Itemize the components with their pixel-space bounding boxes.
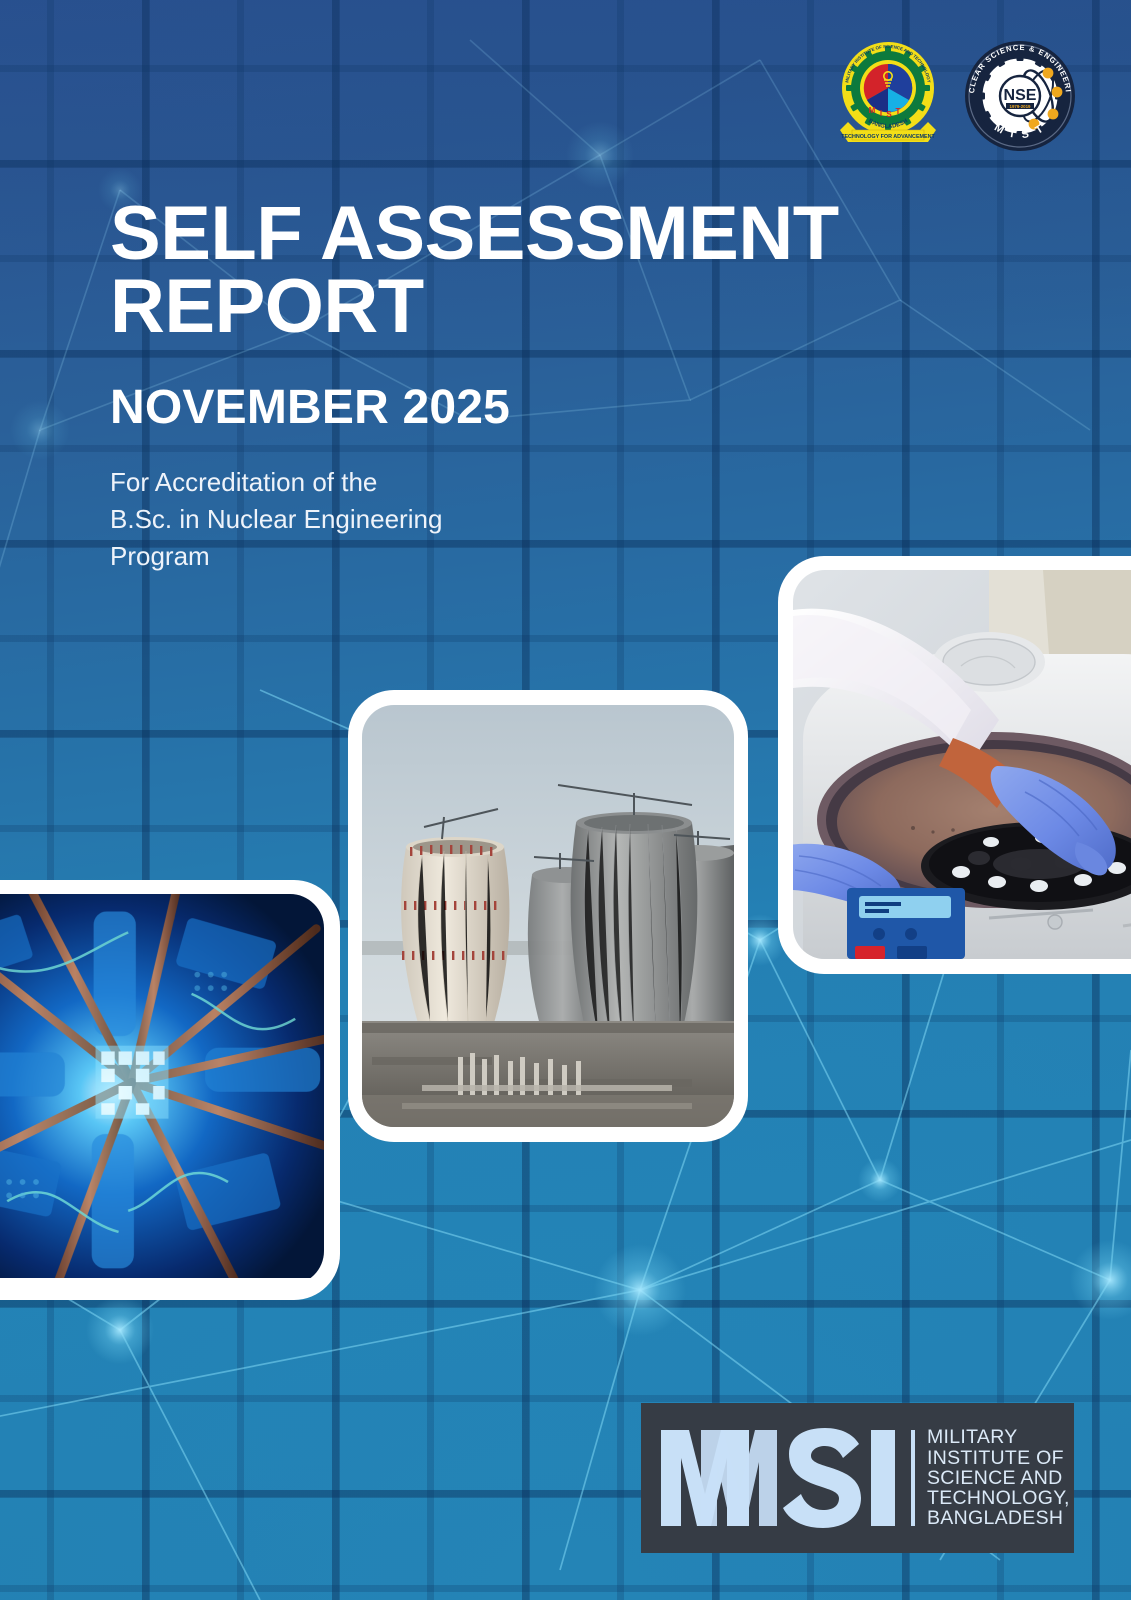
wordmark-organization-name: MILITARY INSTITUTE OF SCIENCE AND TECHNO… <box>927 1427 1070 1528</box>
laboratory-centrifuge-photo <box>793 570 1131 959</box>
title-line-2: REPORT <box>110 271 950 344</box>
org-line-4: TECHNOLOGY, <box>927 1488 1070 1508</box>
org-line-1: MILITARY <box>927 1427 1070 1447</box>
org-line-5: BANGLADESH <box>927 1508 1070 1528</box>
laboratory-centrifuge-photo-frame <box>793 570 1131 959</box>
header-logos: MI ST MILITARY INSTITUTE OF SCIENCE AND … <box>834 38 1076 154</box>
laboratory-centrifuge-photo-card <box>778 556 1131 974</box>
svg-text:S: S <box>886 110 892 119</box>
svg-text:TECHNOLOGY FOR ADVANCEMENT: TECHNOLOGY FOR ADVANCEMENT <box>841 134 935 140</box>
subtitle-line-1: For Accreditation of the <box>110 464 950 501</box>
wordmark-divider <box>911 1430 915 1526</box>
reactor-core-photo-frame <box>0 894 324 1285</box>
svg-text:NSE: NSE <box>1004 87 1037 104</box>
org-line-3: SCIENCE AND <box>927 1468 1070 1488</box>
subtitle-line-2: B.Sc. in Nuclear Engineering <box>110 501 950 538</box>
page-title: SELF ASSESSMENT REPORT <box>110 198 950 344</box>
nse-department-logo: NSE 1979-2019 NUCLEAR SCIENCE & ENGINEER… <box>964 40 1076 152</box>
reactor-core-photo-card <box>0 880 340 1300</box>
mist-wordmark-letters <box>659 1428 909 1528</box>
svg-text:M: M <box>869 106 876 115</box>
cooling-towers-photo-card <box>348 690 748 1142</box>
mist-crest-logo: MI ST MILITARY INSTITUTE OF SCIENCE AND … <box>834 38 942 154</box>
org-line-2: INSTITUTE OF <box>927 1448 1070 1468</box>
svg-text:1979-2019: 1979-2019 <box>1010 104 1032 109</box>
report-date: NOVEMBER 2025 <box>110 384 950 432</box>
mist-wordmark-footer: MILITARY INSTITUTE OF SCIENCE AND TECHNO… <box>641 1403 1074 1553</box>
svg-text:T: T <box>896 107 901 116</box>
cover-title-block: SELF ASSESSMENT REPORT NOVEMBER 2025 For… <box>110 198 950 575</box>
cooling-towers-photo <box>362 705 734 1127</box>
reactor-core-photo <box>0 894 324 1278</box>
cooling-towers-photo-frame <box>362 705 734 1127</box>
svg-text:I: I <box>880 109 882 118</box>
